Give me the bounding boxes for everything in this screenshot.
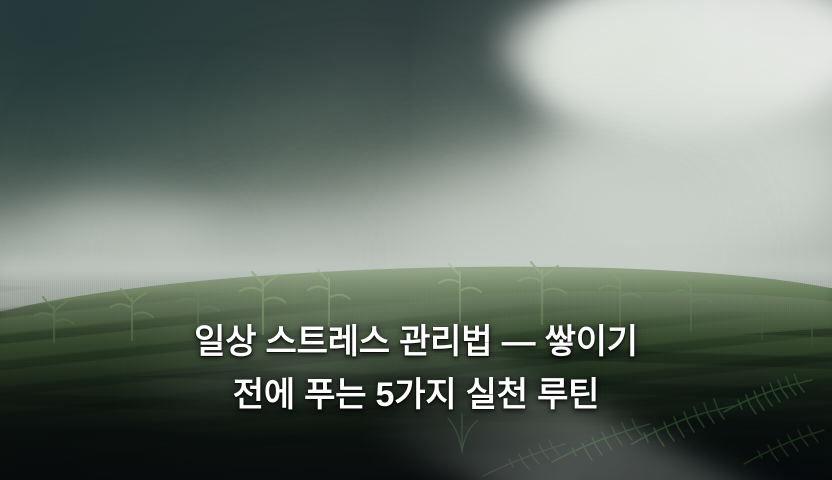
thumbnail-image: 일상 스트레스 관리법 — 쌓이기 전에 푸는 5가지 실천 루틴 — [0, 0, 832, 480]
title-line-2: 전에 푸는 5가지 실천 루틴 — [0, 369, 832, 422]
title-line-1: 일상 스트레스 관리법 — 쌓이기 — [0, 316, 832, 369]
page-title: 일상 스트레스 관리법 — 쌓이기 전에 푸는 5가지 실천 루틴 — [0, 316, 832, 422]
